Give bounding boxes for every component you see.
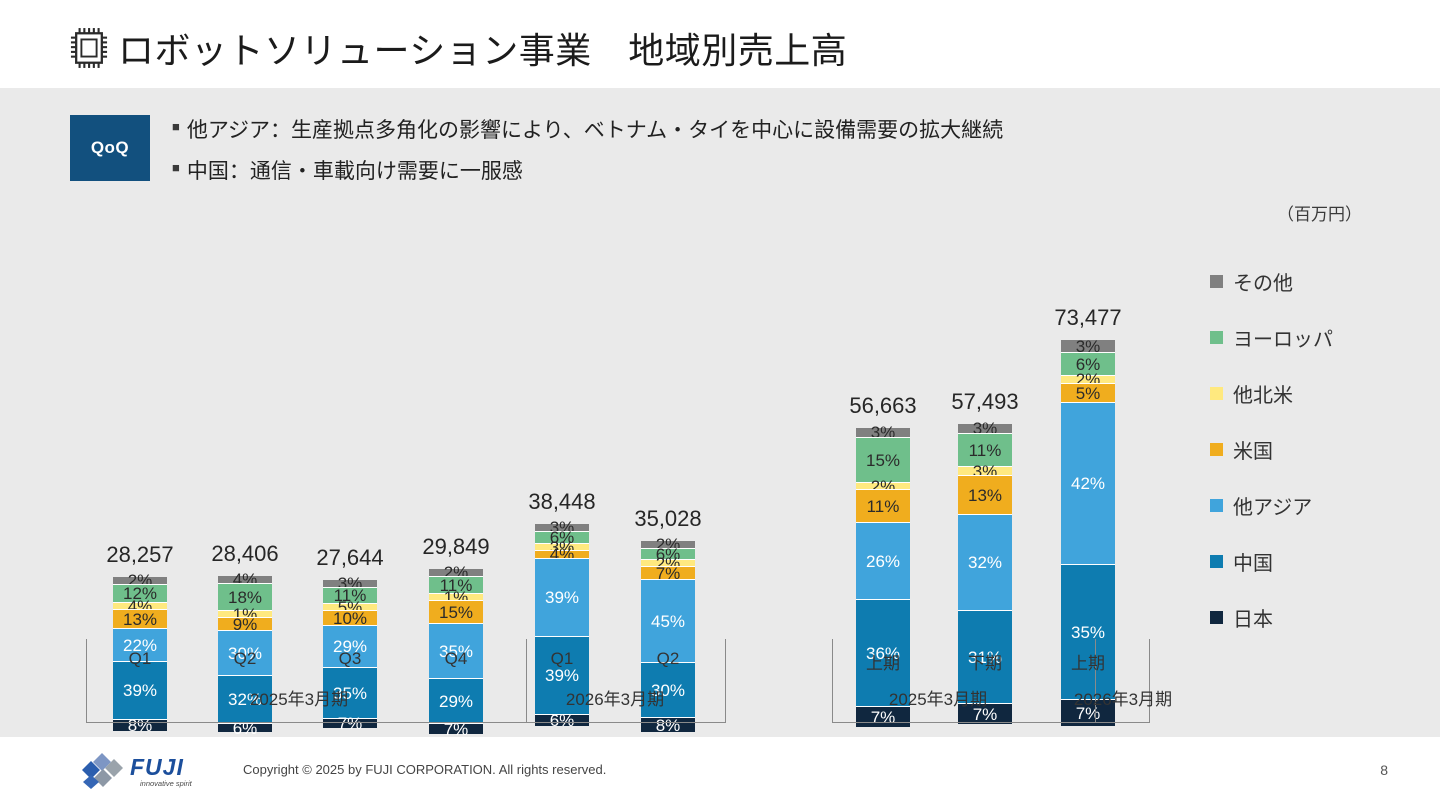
fuji-logo: FUJI innovative spirit — [78, 751, 233, 793]
chip-icon — [70, 27, 108, 69]
legend-item[interactable]: 日本 — [1210, 589, 1380, 645]
axis-tick-label: Q4 — [416, 649, 496, 669]
bar-segment-label: 39% — [545, 589, 579, 606]
bar-segment-label: 11% — [969, 442, 1002, 459]
bar-segment[interactable]: 5% — [1061, 383, 1115, 402]
axis-period-label: 2026年3月期 — [555, 685, 675, 710]
svg-text:FUJI: FUJI — [130, 754, 184, 780]
bar-segment[interactable]: 3% — [958, 466, 1012, 475]
axis-tick-label: 上期 — [1048, 649, 1128, 674]
bar-segment[interactable]: 13% — [958, 475, 1012, 514]
bar-total-label: 29,849 — [381, 534, 531, 560]
slide-header: ロボットソリューション事業 地域別売上高 — [0, 0, 1440, 88]
legend-label: 他アジア — [1233, 491, 1312, 520]
legend-swatch-icon — [1210, 331, 1223, 344]
axis-tick-label: Q1 — [522, 649, 602, 669]
slide-footer: FUJI innovative spirit Copyright © 2025 … — [0, 737, 1440, 810]
bar-segment-label: 13% — [123, 611, 157, 628]
bar-segment-label: 35% — [1071, 624, 1105, 641]
bar-segment[interactable]: 15% — [856, 437, 910, 482]
bar-segment-label: 11% — [867, 498, 900, 515]
axis-period-label: 2026年3月期 — [1063, 685, 1183, 710]
bar-segment[interactable]: 4% — [218, 576, 272, 583]
bar-segment-label: 45% — [651, 613, 685, 630]
bar-total-label: 57,493 — [910, 389, 1060, 415]
axis-tick-label: 上期 — [843, 649, 923, 674]
bar-segment[interactable]: 3% — [958, 424, 1012, 433]
bar-segment-label: 26% — [866, 553, 900, 570]
bar-segment-label: 13% — [968, 487, 1002, 504]
bar-segment[interactable]: 39% — [535, 558, 589, 636]
legend-swatch-icon — [1210, 275, 1223, 288]
bar-segment[interactable]: 3% — [856, 428, 910, 437]
bar-total-label: 73,477 — [1013, 305, 1163, 331]
bar-segment[interactable]: 4% — [535, 550, 589, 558]
bar-segment[interactable]: 6% — [218, 723, 272, 732]
copyright-text: Copyright © 2025 by FUJI CORPORATION. Al… — [243, 762, 606, 777]
bar-segment[interactable]: 15% — [429, 600, 483, 623]
page-number: 8 — [1380, 762, 1388, 778]
svg-text:innovative spirit: innovative spirit — [140, 779, 193, 788]
bar-segment[interactable]: 32% — [958, 514, 1012, 610]
bar-segment[interactable]: 26% — [856, 522, 910, 599]
axis-tick-label: Q1 — [100, 649, 180, 669]
bar-segment-label: 18% — [228, 589, 262, 606]
slide-root: ロボットソリューション事業 地域別売上高 QoQ ■ 他アジア：生産拠点多角化の… — [0, 0, 1440, 810]
legend-item[interactable]: その他 — [1210, 253, 1380, 309]
legend-label: 中国 — [1233, 547, 1273, 576]
legend-item[interactable]: 他北米 — [1210, 365, 1380, 421]
bar-segment[interactable]: 11% — [856, 489, 910, 522]
bar-total-label: 35,028 — [593, 506, 743, 532]
legend-swatch-icon — [1210, 611, 1223, 624]
axis-period-label: 2025年3月期 — [239, 685, 359, 710]
bar-segment-label: 32% — [968, 554, 1002, 571]
legend-label: ヨーロッパ — [1233, 323, 1333, 352]
bar-segment[interactable]: 13% — [113, 609, 167, 628]
bar-segment[interactable]: 7% — [641, 566, 695, 579]
legend-swatch-icon — [1210, 555, 1223, 568]
bar-segment[interactable]: 2% — [856, 482, 910, 489]
legend-swatch-icon — [1210, 499, 1223, 512]
bar-segment-label: 7% — [444, 721, 469, 738]
bar-segment[interactable]: 2% — [1061, 375, 1115, 383]
bar-segment[interactable]: 1% — [429, 593, 483, 600]
slide-body: QoQ ■ 他アジア：生産拠点多角化の影響により、ベトナム・タイを中心に設備需要… — [0, 88, 1440, 737]
chart-legend: その他ヨーロッパ他北米米国他アジア中国日本 — [1210, 253, 1380, 645]
bar-segment-label: 15% — [439, 604, 473, 621]
bar-segment-label: 10% — [333, 610, 367, 627]
legend-label: その他 — [1233, 267, 1293, 296]
bar-segment[interactable]: 3% — [1061, 340, 1115, 352]
legend-swatch-icon — [1210, 387, 1223, 400]
bar-segment[interactable]: 7% — [429, 723, 483, 734]
bar-segment[interactable]: 2% — [113, 577, 167, 584]
axis-tick-label: Q2 — [628, 649, 708, 669]
axis-tick-label: Q3 — [310, 649, 390, 669]
axis-tick-label: 下期 — [945, 649, 1025, 674]
bar-segment-label: 5% — [1076, 385, 1101, 402]
bar-segment[interactable]: 9% — [218, 617, 272, 630]
legend-label: 他北米 — [1233, 379, 1293, 408]
axis-tick-label: Q2 — [205, 649, 285, 669]
bar-segment-label: 15% — [866, 452, 900, 469]
legend-item[interactable]: ヨーロッパ — [1210, 309, 1380, 365]
legend-item[interactable]: 中国 — [1210, 533, 1380, 589]
title-row: ロボットソリューション事業 地域別売上高 — [70, 22, 847, 74]
axis-period-label: 2025年3月期 — [878, 685, 998, 710]
bar-segment[interactable]: 4% — [113, 602, 167, 609]
bar-segment-label: 42% — [1071, 475, 1105, 492]
legend-item[interactable]: 米国 — [1210, 421, 1380, 477]
fuji-logo-icon: FUJI innovative spirit — [78, 751, 233, 793]
legend-swatch-icon — [1210, 443, 1223, 456]
bar-segment[interactable]: 42% — [1061, 402, 1115, 564]
legend-label: 日本 — [1233, 603, 1273, 632]
legend-label: 米国 — [1233, 435, 1273, 464]
bar-segment[interactable]: 10% — [323, 610, 377, 625]
legend-item[interactable]: 他アジア — [1210, 477, 1380, 533]
page-title: ロボットソリューション事業 地域別売上高 — [118, 22, 847, 74]
